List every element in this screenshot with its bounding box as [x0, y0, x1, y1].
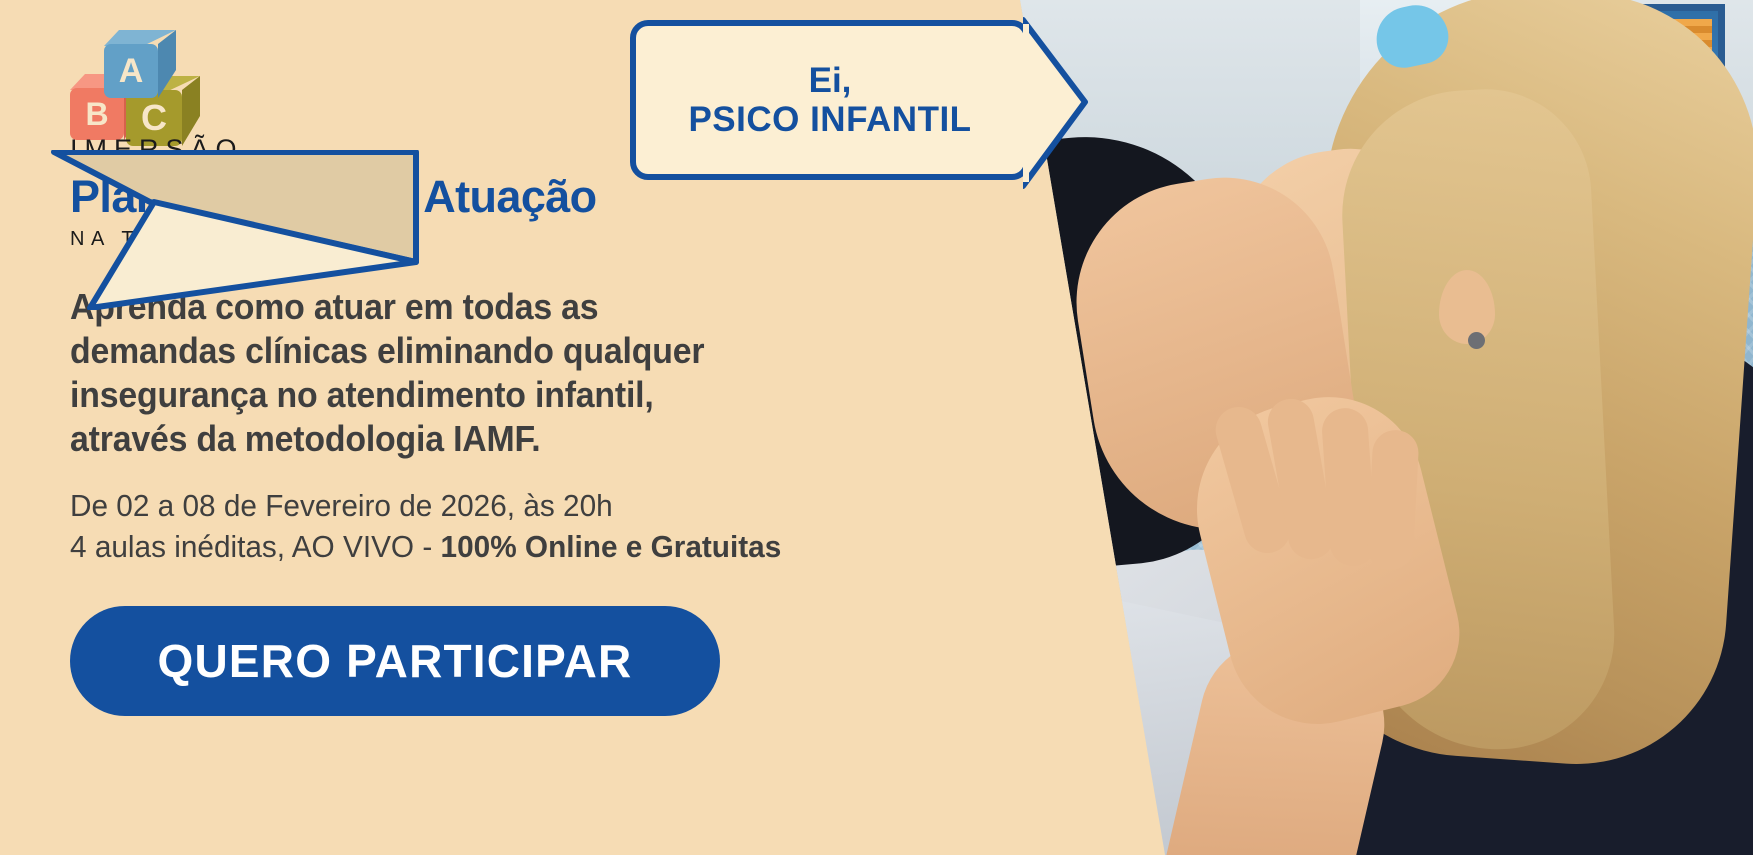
- speech-bubble-line-2: PSICO INFANTIL: [688, 100, 971, 139]
- speech-bubble-body: Ei, PSICO INFANTIL: [630, 20, 1030, 180]
- block-a-letter: A: [104, 44, 158, 98]
- schedule-classes-prefix: 4 aulas inéditas, AO VIVO -: [70, 529, 441, 564]
- schedule-block: De 02 a 08 de Fevereiro de 2026, às 20h …: [70, 485, 915, 569]
- schedule-classes: 4 aulas inéditas, AO VIVO - 100% Online …: [70, 526, 915, 568]
- lead-line-4: através da metodologia IAMF.: [70, 417, 803, 461]
- speech-bubble-arrow-tip: [1023, 14, 1143, 204]
- lead-line-3: insegurança no atendimento infantil,: [70, 373, 803, 417]
- photo-finger: [1366, 429, 1419, 571]
- schedule-classes-highlight: 100% Online e Gratuitas: [441, 529, 782, 564]
- schedule-date: De 02 a 08 de Fevereiro de 2026, às 20h: [70, 485, 915, 527]
- abc-blocks-logo: B C A: [70, 30, 190, 140]
- lead-paragraph: Aprenda como atuar em todas as demandas …: [70, 285, 803, 461]
- lead-line-2: demandas clínicas eliminando qualquer: [70, 329, 803, 373]
- speech-bubble-tail: [30, 150, 450, 310]
- speech-bubble-line-1: Ei,: [809, 61, 852, 100]
- speech-bubble: Ei, PSICO INFANTIL: [630, 20, 1030, 180]
- promo-banner: B C A IMERSÃO Plano Prático de Atuação N…: [0, 0, 1753, 855]
- quero-participar-button[interactable]: QUERO PARTICIPAR: [70, 606, 720, 716]
- photo-therapist-earring: [1468, 332, 1485, 349]
